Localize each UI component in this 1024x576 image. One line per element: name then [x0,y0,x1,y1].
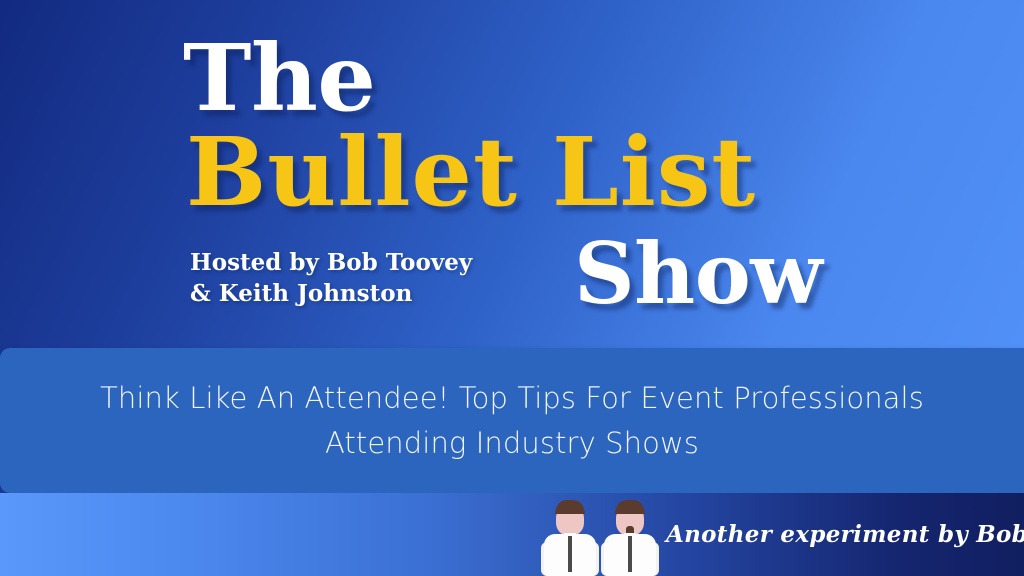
footer-signature: Another experiment by Bob & Keith [666,521,1024,548]
hair-top-shape [555,502,585,514]
hero-section: The Bullet List Show Hosted by Bob Toove… [0,0,1024,348]
necktie-shape [628,536,632,572]
show-title-line-1: The [183,32,375,124]
show-title-line-3: Show [574,232,822,316]
show-title-line-2: Bullet List [186,125,756,220]
hosts-avatar-group [541,500,661,576]
footer-strip: Another experiment by Bob & Keith [0,493,1024,576]
person-with-beard-icon [601,500,659,576]
episode-title-banner: Think Like An Attendee! Top Tips For Eve… [0,348,1024,493]
episode-title-text: Think Like An Attendee! Top Tips For Eve… [97,376,927,466]
hair-top-shape [615,502,645,514]
necktie-shape [568,536,572,572]
podcast-title-slide: The Bullet List Show Hosted by Bob Toove… [0,0,1024,576]
hosted-by-credit: Hosted by Bob Toovey & Keith Johnston [190,248,472,309]
person-icon [541,500,599,576]
